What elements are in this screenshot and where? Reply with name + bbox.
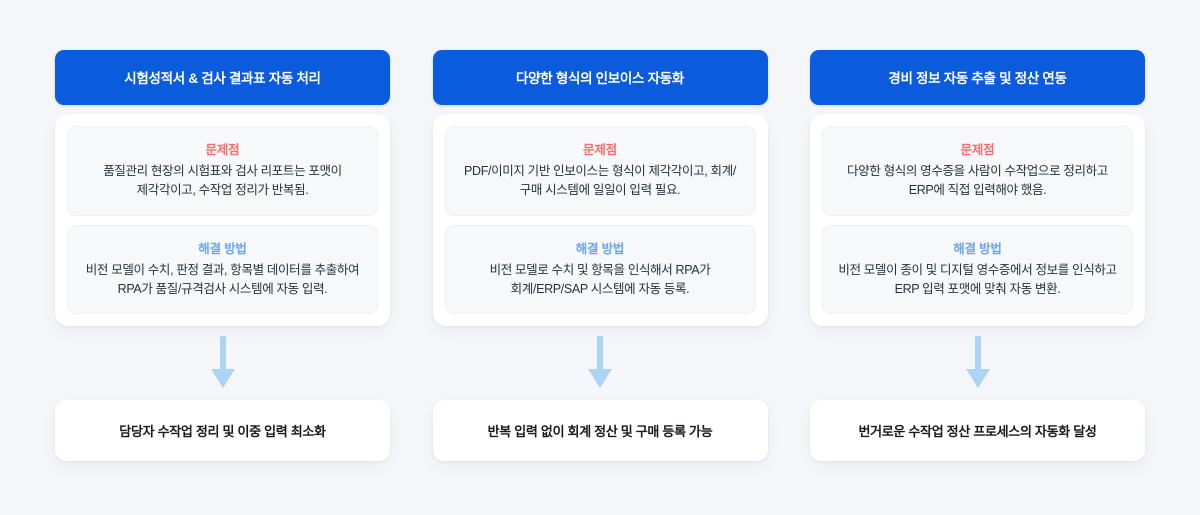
column-1-card: 문제점 품질관리 현장의 시험표와 검사 리포트는 포맷이 제각각이고, 수작업… bbox=[55, 114, 390, 327]
problem-text: 다양한 형식의 영수증을 사람이 수작업으로 정리하고 ERP에 직접 입력해야… bbox=[837, 162, 1118, 201]
column-3-arrow-zone bbox=[810, 326, 1145, 400]
column-1-solution-panel: 해결 방법 비전 모델이 수치, 판정 결과, 항목별 데이터를 추출하여 RP… bbox=[67, 225, 378, 315]
solution-label: 해결 방법 bbox=[460, 238, 741, 257]
down-arrow-icon bbox=[965, 336, 991, 390]
usecase-column-3: 경비 정보 자동 추출 및 정산 연동 문제점 다양한 형식의 영수증을 사람이… bbox=[810, 50, 1145, 461]
problem-label: 문제점 bbox=[460, 139, 741, 158]
column-2-solution-panel: 해결 방법 비전 모델로 수치 및 항목을 인식해서 RPA가 회계/ERP/S… bbox=[445, 225, 756, 315]
down-arrow-icon bbox=[587, 336, 613, 390]
solution-text: 비전 모델로 수치 및 항목을 인식해서 RPA가 회계/ERP/SAP 시스템… bbox=[460, 261, 741, 300]
column-3-header: 경비 정보 자동 추출 및 정산 연동 bbox=[810, 50, 1145, 105]
problem-text: 품질관리 현장의 시험표와 검사 리포트는 포맷이 제각각이고, 수작업 정리가… bbox=[82, 162, 363, 201]
solution-label: 해결 방법 bbox=[82, 238, 363, 257]
column-1-problem-panel: 문제점 품질관리 현장의 시험표와 검사 리포트는 포맷이 제각각이고, 수작업… bbox=[67, 126, 378, 216]
problem-label: 문제점 bbox=[837, 139, 1118, 158]
usecase-board: 시험성적서 & 검사 결과표 자동 처리 문제점 품질관리 현장의 시험표와 검… bbox=[0, 0, 1200, 515]
column-3-solution-panel: 해결 방법 비전 모델이 종이 및 디지털 영수증에서 정보를 인식하고 ERP… bbox=[822, 225, 1133, 315]
usecase-column-1: 시험성적서 & 검사 결과표 자동 처리 문제점 품질관리 현장의 시험표와 검… bbox=[55, 50, 390, 461]
column-2-card: 문제점 PDF/이미지 기반 인보이스는 형식이 제각각이고, 회계/구매 시스… bbox=[433, 114, 768, 327]
column-3-result: 번거로운 수작업 정산 프로세스의 자동화 달성 bbox=[810, 400, 1145, 461]
column-3-problem-panel: 문제점 다양한 형식의 영수증을 사람이 수작업으로 정리하고 ERP에 직접 … bbox=[822, 126, 1133, 216]
solution-text: 비전 모델이 수치, 판정 결과, 항목별 데이터를 추출하여 RPA가 품질/… bbox=[82, 261, 363, 300]
usecase-column-2: 다양한 형식의 인보이스 자동화 문제점 PDF/이미지 기반 인보이스는 형식… bbox=[433, 50, 768, 461]
column-2-result: 반복 입력 없이 회계 정산 및 구매 등록 가능 bbox=[433, 400, 768, 461]
column-3-card: 문제점 다양한 형식의 영수증을 사람이 수작업으로 정리하고 ERP에 직접 … bbox=[810, 114, 1145, 327]
column-2-arrow-zone bbox=[433, 326, 768, 400]
column-1-arrow-zone bbox=[55, 326, 390, 400]
down-arrow-icon bbox=[210, 336, 236, 390]
problem-label: 문제점 bbox=[82, 139, 363, 158]
solution-label: 해결 방법 bbox=[837, 238, 1118, 257]
column-2-problem-panel: 문제점 PDF/이미지 기반 인보이스는 형식이 제각각이고, 회계/구매 시스… bbox=[445, 126, 756, 216]
problem-text: PDF/이미지 기반 인보이스는 형식이 제각각이고, 회계/구매 시스템에 일… bbox=[460, 162, 741, 201]
column-2-header: 다양한 형식의 인보이스 자동화 bbox=[433, 50, 768, 105]
column-1-header: 시험성적서 & 검사 결과표 자동 처리 bbox=[55, 50, 390, 105]
solution-text: 비전 모델이 종이 및 디지털 영수증에서 정보를 인식하고 ERP 입력 포맷… bbox=[837, 261, 1118, 300]
column-1-result: 담당자 수작업 정리 및 이중 입력 최소화 bbox=[55, 400, 390, 461]
